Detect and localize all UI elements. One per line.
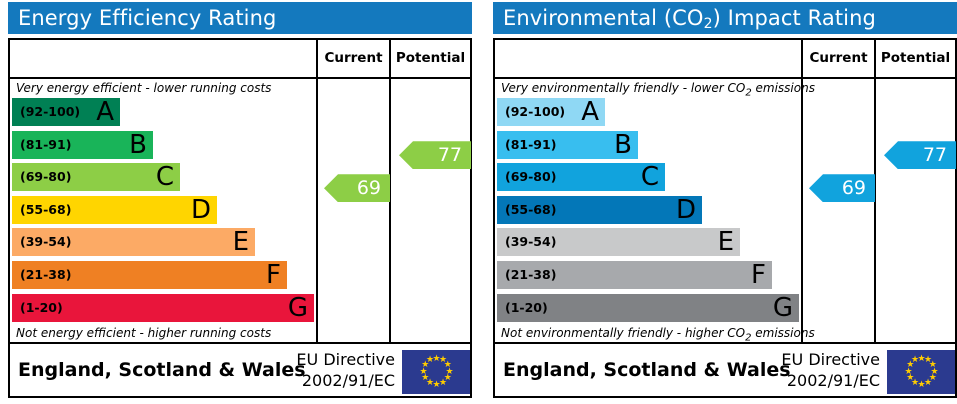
column-header-potential: Potential xyxy=(391,40,470,77)
band-letter: E xyxy=(718,229,734,255)
band-range-label: (69-80) xyxy=(505,163,556,191)
caption-bottom: Not environmentally friendly - higher CO… xyxy=(501,326,815,343)
band-range-label: (55-68) xyxy=(20,196,71,224)
column-divider-1 xyxy=(316,40,318,344)
rating-band-B: (81-91)B xyxy=(12,131,153,159)
band-range-label: (21-38) xyxy=(505,261,556,289)
band-letter: A xyxy=(96,99,114,125)
band-letter: E xyxy=(233,229,249,255)
potential-rating-arrow: 77 xyxy=(399,141,471,169)
band-letter: D xyxy=(191,197,211,223)
caption-top: Very environmentally friendly - lower CO… xyxy=(501,81,815,98)
band-range-label: (1-20) xyxy=(20,294,63,322)
rating-band-C: (69-80)C xyxy=(12,163,180,191)
chart-footer: England, Scotland & WalesEU Directive200… xyxy=(495,344,955,396)
band-range-label: (92-100) xyxy=(20,98,80,126)
footer-region-label: England, Scotland & Wales xyxy=(503,344,791,396)
directive-line-1: EU Directive xyxy=(772,349,880,370)
current-rating-arrow: 69 xyxy=(809,174,875,202)
footer-directive-label: EU Directive2002/91/EC xyxy=(772,349,880,391)
band-range-label: (81-91) xyxy=(505,131,556,159)
band-letter: C xyxy=(641,164,659,190)
caption-top: Very energy efficient - lower running co… xyxy=(16,81,271,95)
chart-title: Environmental (CO2) Impact Rating xyxy=(493,2,957,34)
column-header-current: Current xyxy=(318,40,389,77)
rating-band-G: (1-20)G xyxy=(12,294,314,322)
current-rating-arrow: 69 xyxy=(324,174,390,202)
band-letter: F xyxy=(266,262,281,288)
band-letter: B xyxy=(129,132,147,158)
rating-band-B: (81-91)B xyxy=(497,131,638,159)
rating-band-A: (92-100)A xyxy=(497,98,605,126)
directive-line-2: 2002/91/EC xyxy=(772,370,880,391)
rating-band-E: (39-54)E xyxy=(12,228,255,256)
band-range-label: (92-100) xyxy=(505,98,565,126)
epc-chart-energy-efficiency: Energy Efficiency RatingCurrentPotential… xyxy=(0,0,472,404)
epc-chart-co2-impact: Environmental (CO2) Impact RatingCurrent… xyxy=(485,0,957,404)
band-letter: F xyxy=(751,262,766,288)
band-letter: C xyxy=(156,164,174,190)
rating-band-D: (55-68)D xyxy=(12,196,217,224)
rating-band-F: (21-38)F xyxy=(12,261,287,289)
band-range-label: (55-68) xyxy=(505,196,556,224)
rating-band-E: (39-54)E xyxy=(497,228,740,256)
footer-directive-label: EU Directive2002/91/EC xyxy=(287,349,395,391)
rating-bands: (92-100)A(81-91)B(69-80)C(55-68)D(39-54)… xyxy=(12,98,314,326)
epc-rating-charts: Energy Efficiency RatingCurrentPotential… xyxy=(0,0,957,404)
band-range-label: (69-80) xyxy=(20,163,71,191)
eu-flag-icon: ★★★★★★★★★★★★ xyxy=(402,350,470,394)
band-letter: G xyxy=(773,295,793,321)
rating-band-C: (69-80)C xyxy=(497,163,665,191)
rating-band-G: (1-20)G xyxy=(497,294,799,322)
eu-flag-star: ★ xyxy=(911,357,918,364)
band-range-label: (21-38) xyxy=(20,261,71,289)
rating-bands: (92-100)A(81-91)B(69-80)C(55-68)D(39-54)… xyxy=(497,98,799,326)
band-letter: D xyxy=(676,197,696,223)
table-header-row: CurrentPotential xyxy=(10,40,470,79)
chart-footer: England, Scotland & WalesEU Directive200… xyxy=(10,344,470,396)
footer-region-label: England, Scotland & Wales xyxy=(18,344,306,396)
eu-flag-icon: ★★★★★★★★★★★★ xyxy=(887,350,955,394)
band-letter: B xyxy=(614,132,632,158)
band-range-label: (81-91) xyxy=(20,131,71,159)
band-letter: G xyxy=(288,295,308,321)
band-letter: A xyxy=(581,99,599,125)
rating-band-A: (92-100)A xyxy=(12,98,120,126)
rating-band-F: (21-38)F xyxy=(497,261,772,289)
column-header-potential: Potential xyxy=(876,40,955,77)
rating-table: CurrentPotentialVery energy efficient - … xyxy=(8,38,472,398)
rating-band-D: (55-68)D xyxy=(497,196,702,224)
caption-bottom: Not energy efficient - higher running co… xyxy=(16,326,271,340)
column-header-current: Current xyxy=(803,40,874,77)
directive-line-2: 2002/91/EC xyxy=(287,370,395,391)
potential-rating-arrow: 77 xyxy=(884,141,956,169)
band-range-label: (39-54) xyxy=(20,228,71,256)
chart-title: Energy Efficiency Rating xyxy=(8,2,472,34)
band-range-label: (39-54) xyxy=(505,228,556,256)
table-header-row: CurrentPotential xyxy=(495,40,955,79)
directive-line-1: EU Directive xyxy=(287,349,395,370)
eu-flag-star: ★ xyxy=(426,357,433,364)
rating-table: CurrentPotentialVery environmentally fri… xyxy=(493,38,957,398)
band-range-label: (1-20) xyxy=(505,294,548,322)
